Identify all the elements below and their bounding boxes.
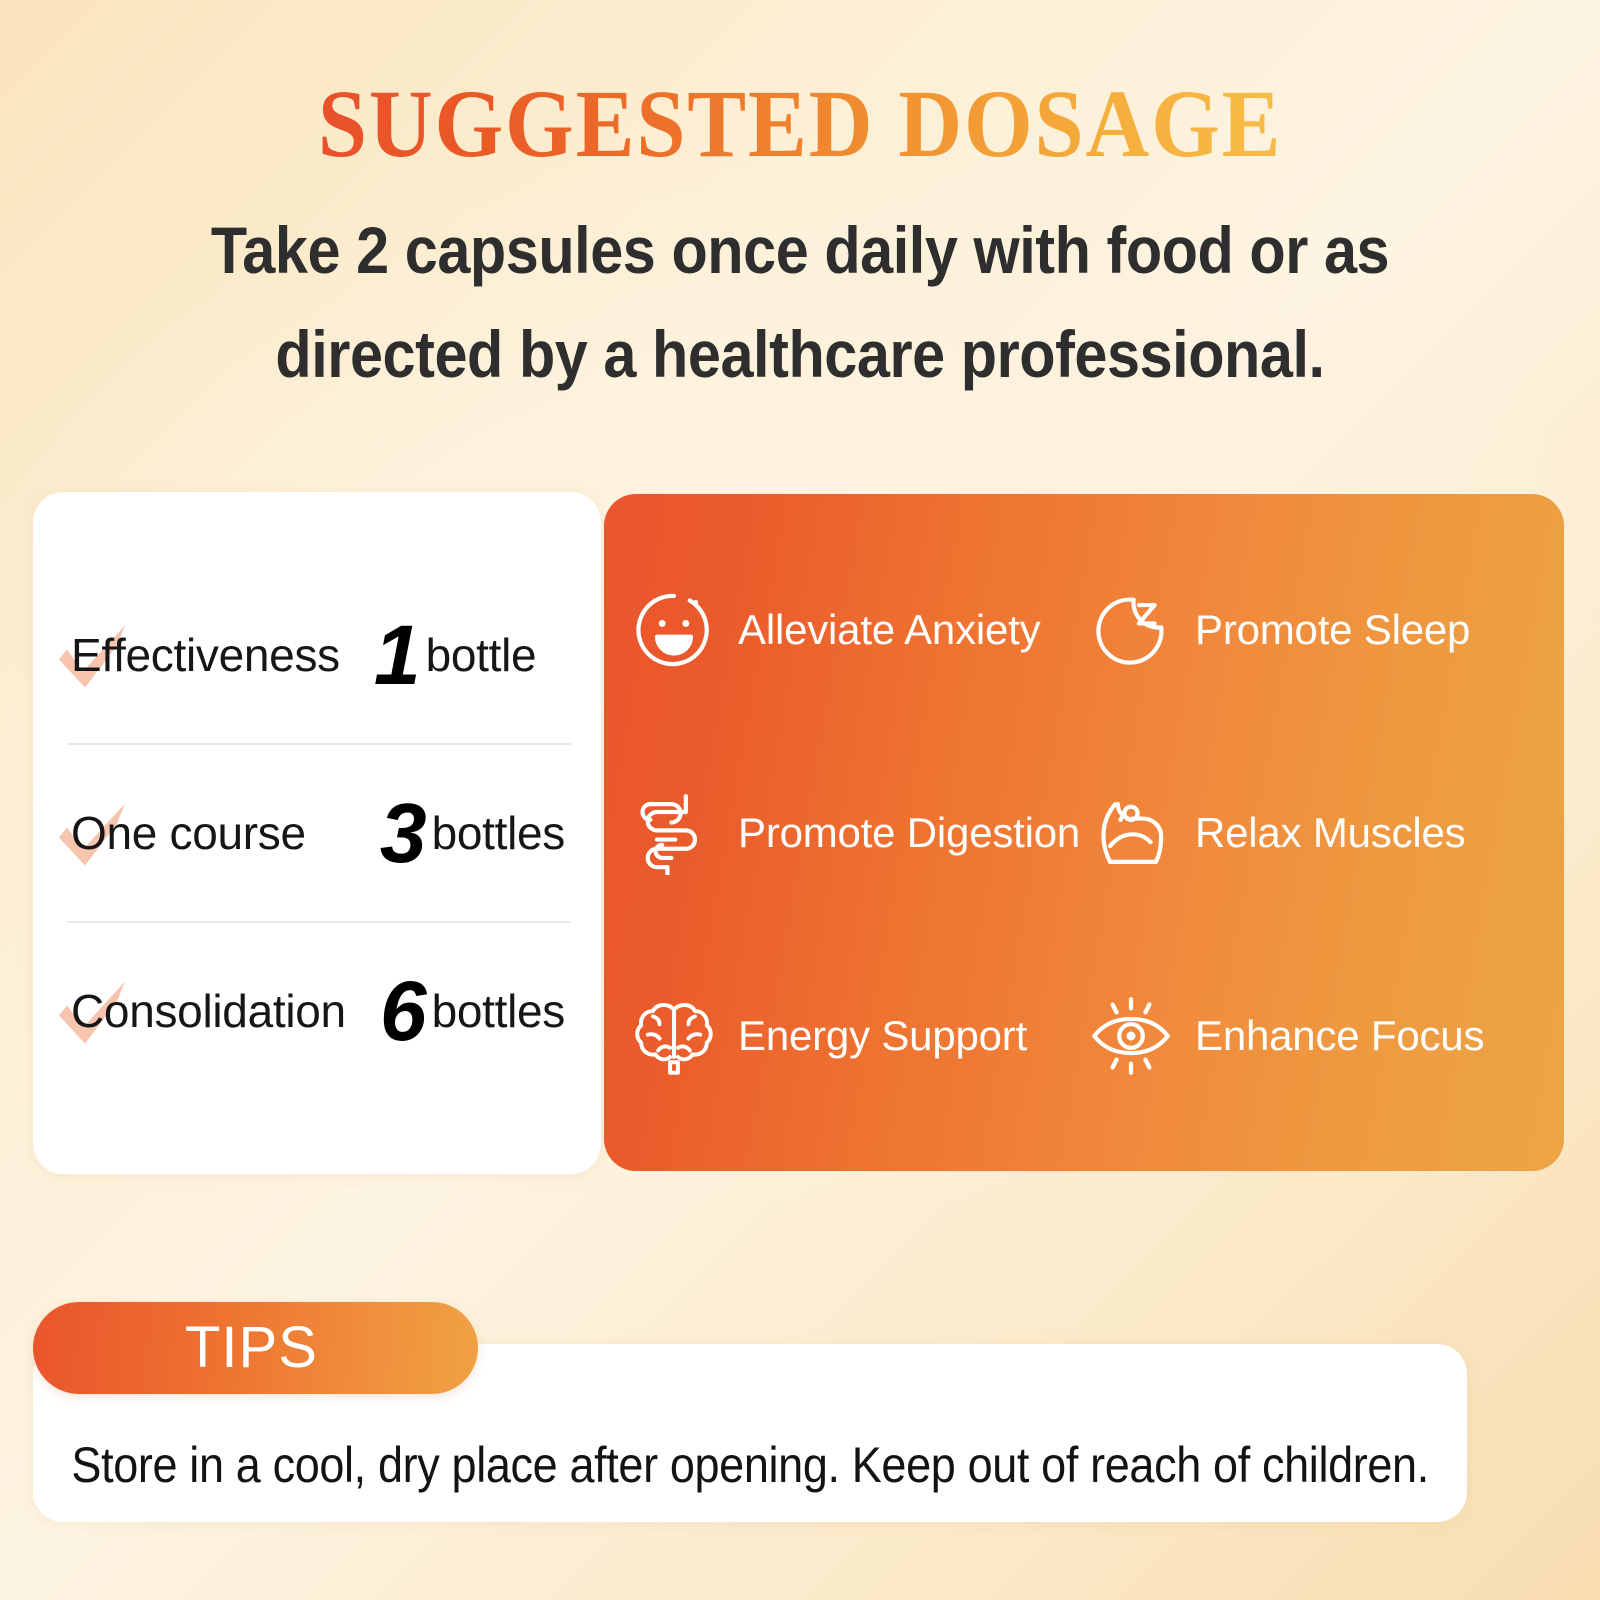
brain-icon <box>632 994 716 1078</box>
moon-sleep-icon <box>1089 588 1173 672</box>
dosage-label: Effectiveness <box>71 628 340 682</box>
tips-badge: TIPS <box>33 1302 478 1394</box>
page-header: SUGGESTED DOSAGE Take 2 capsules once da… <box>0 0 1600 407</box>
page-title: SUGGESTED DOSAGE <box>318 76 1282 172</box>
tips-text: Store in a cool, dry place after opening… <box>71 1436 1428 1494</box>
eye-icon <box>1089 994 1173 1078</box>
flexed-bicep-icon <box>1089 791 1173 875</box>
page-subtitle: Take 2 capsules once daily with food or … <box>184 198 1417 407</box>
benefit-item-enhance-focus: Enhance Focus <box>1089 994 1546 1078</box>
benefit-item-promote-sleep: Promote Sleep <box>1089 588 1546 672</box>
dosage-row-consolidation: Consolidation 6 bottles <box>33 923 591 1099</box>
dosage-number: 6 <box>380 969 432 1053</box>
benefit-item-alleviate-anxiety: Alleviate Anxiety <box>632 588 1089 672</box>
dosage-unit: bottles <box>432 806 591 860</box>
benefits-panel: Alleviate Anxiety Promote Sleep <box>604 494 1564 1171</box>
benefit-label: Promote Digestion <box>738 809 1080 857</box>
benefit-item-promote-digestion: Promote Digestion <box>632 791 1089 875</box>
dosage-number: 3 <box>380 791 432 875</box>
benefit-item-energy-support: Energy Support <box>632 994 1089 1078</box>
dosage-label: Consolidation <box>71 984 346 1038</box>
dosage-card: Effectiveness 1 bottle One course 3 bott… <box>33 492 601 1174</box>
dosage-row-one-course: One course 3 bottles <box>33 745 591 921</box>
smiley-face-icon <box>632 588 716 672</box>
benefit-item-relax-muscles: Relax Muscles <box>1089 791 1546 875</box>
dosage-label: One course <box>71 806 306 860</box>
benefit-label: Enhance Focus <box>1195 1012 1484 1060</box>
benefit-label: Energy Support <box>738 1012 1027 1060</box>
benefit-label: Relax Muscles <box>1195 809 1465 857</box>
intestine-icon <box>632 791 716 875</box>
benefit-label: Promote Sleep <box>1195 606 1470 654</box>
tips-badge-label: TIPS <box>185 1319 318 1377</box>
cards-row: Effectiveness 1 bottle One course 3 bott… <box>0 492 1600 1176</box>
dosage-unit: bottles <box>432 984 591 1038</box>
dosage-row-effectiveness: Effectiveness 1 bottle <box>33 567 591 743</box>
dosage-number: 1 <box>374 613 426 697</box>
dosage-list: Effectiveness 1 bottle One course 3 bott… <box>33 567 601 1099</box>
benefit-label: Alleviate Anxiety <box>738 606 1040 654</box>
dosage-unit: bottle <box>426 628 563 682</box>
